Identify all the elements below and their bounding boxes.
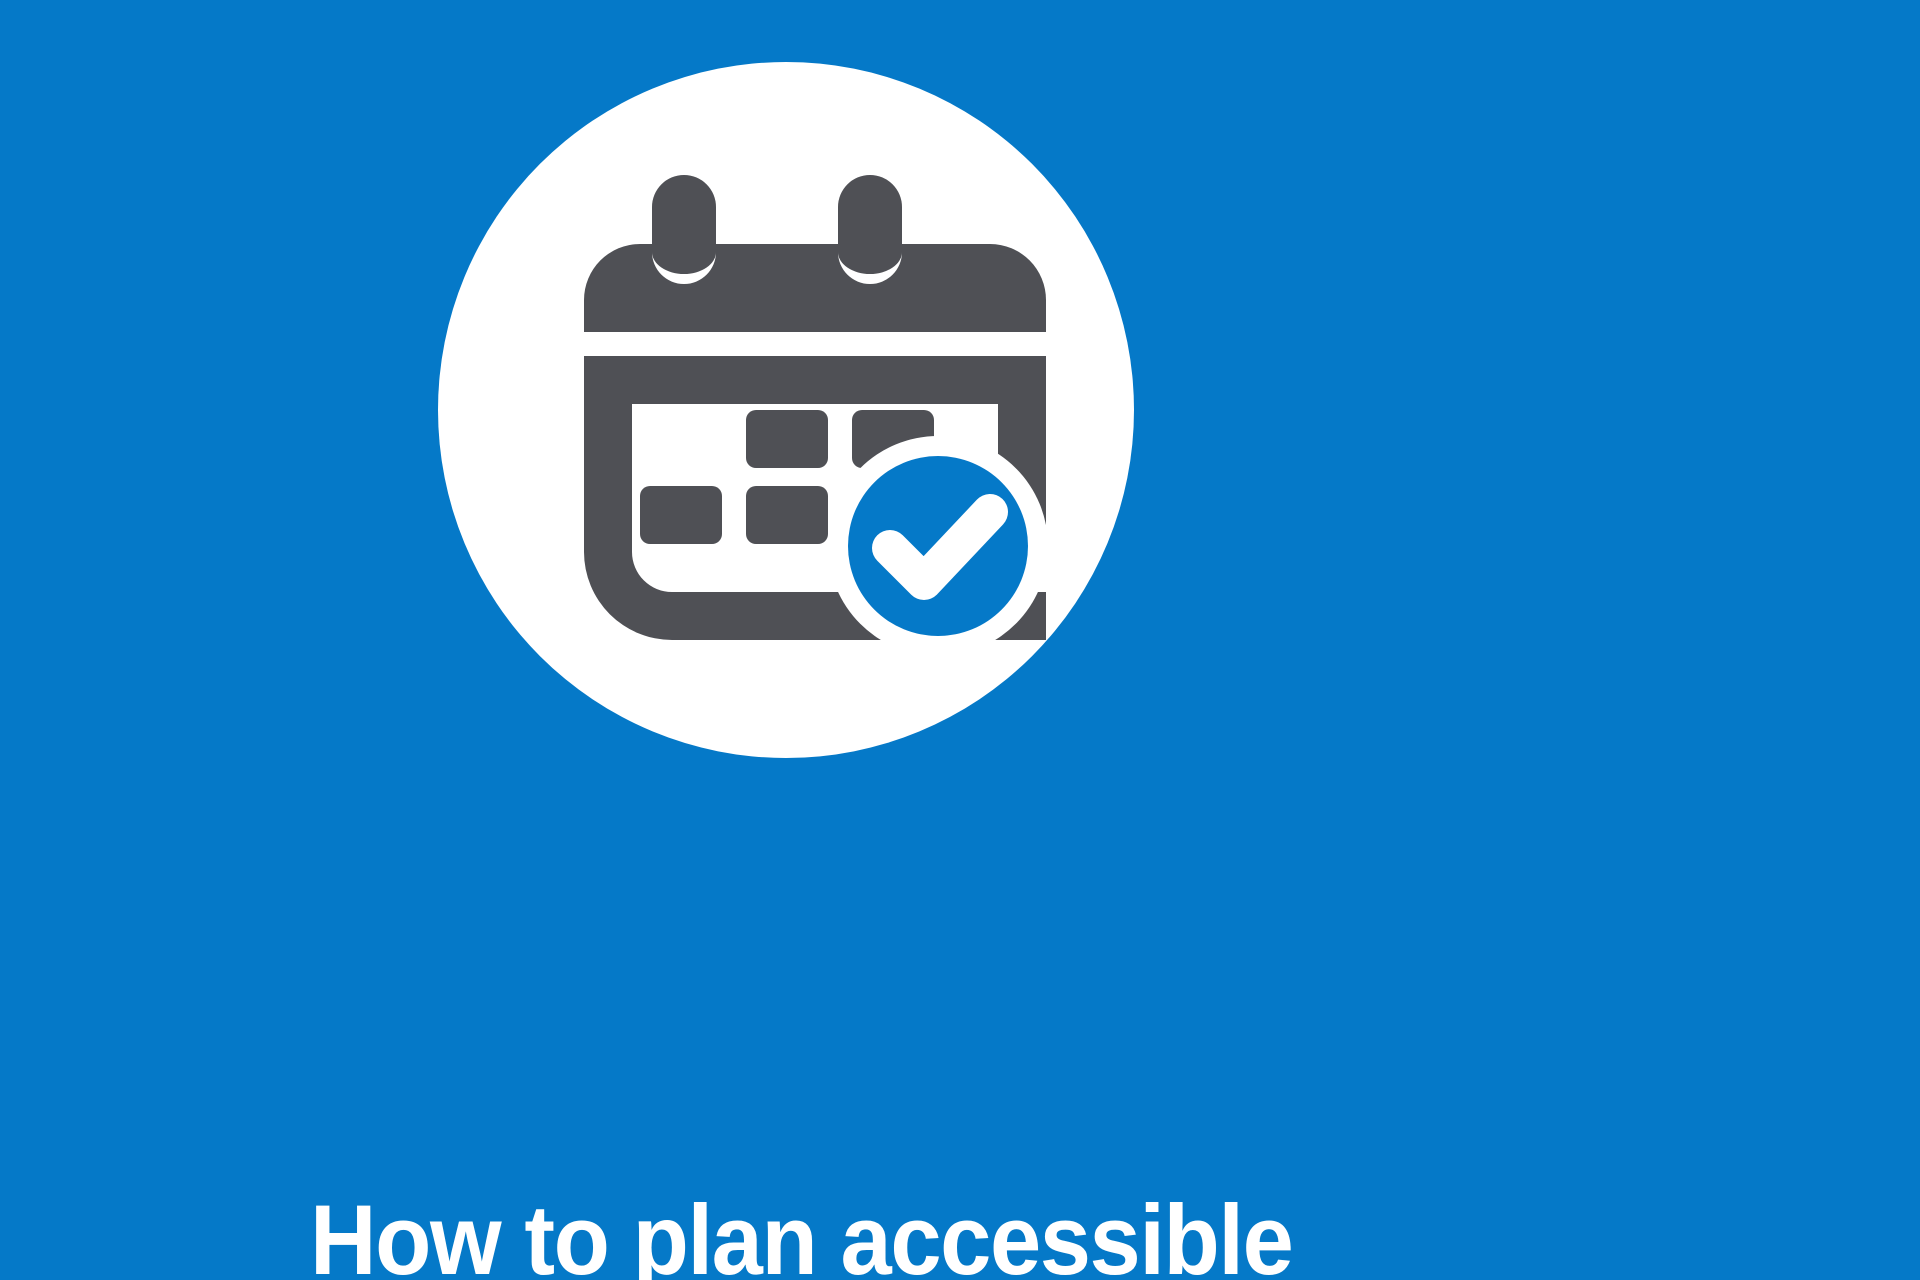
page-title-line-1: How to plan accessible: [310, 1192, 1612, 1280]
calendar-check-icon: [438, 62, 1134, 758]
calendar-ring-left: [652, 175, 716, 284]
calendar-day-block: [640, 486, 722, 544]
calendar-day-block: [746, 410, 828, 468]
calendar-day-block: [746, 486, 828, 544]
page-title: How to plan accessible and inclusive eve…: [310, 1002, 1612, 1280]
poster-canvas: How to plan accessible and inclusive eve…: [0, 0, 1920, 1280]
calendar-ring-right: [838, 175, 902, 284]
